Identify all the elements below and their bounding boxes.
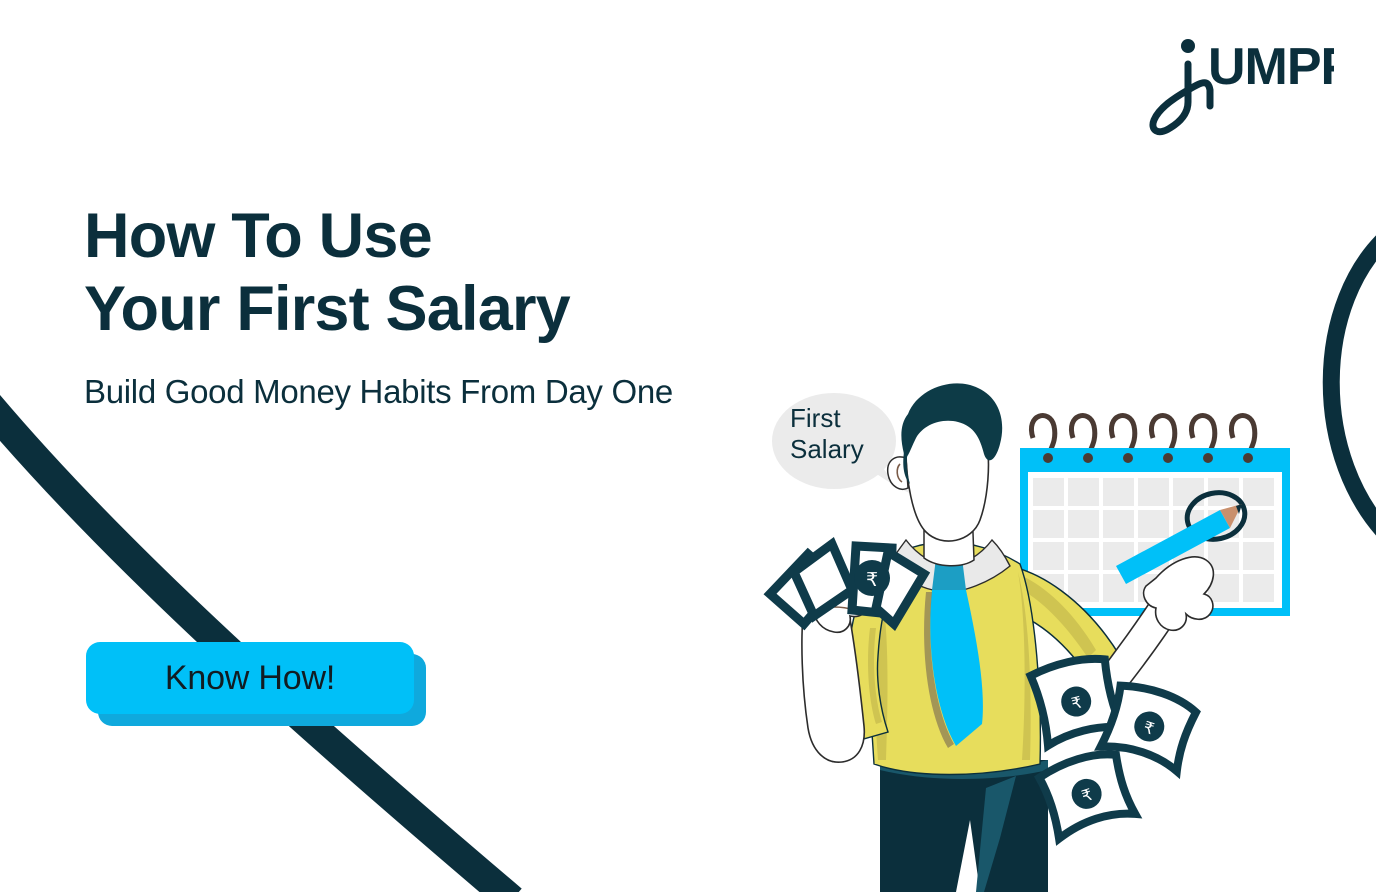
headline-line-2: Your First Salary	[84, 273, 784, 346]
person-head	[888, 383, 1002, 565]
cta-container: Know How!	[86, 642, 416, 722]
speech-bubble-text: First Salary	[790, 403, 900, 464]
hero-copy: How To Use Your First Salary Build Good …	[84, 200, 784, 412]
floating-note-3: ₹	[1038, 748, 1136, 839]
hero-subheadline: Build Good Money Habits From Day One	[84, 372, 784, 412]
person-trousers	[880, 760, 1048, 892]
headline-line-1: How To Use	[84, 200, 784, 273]
promo-banner: UMPP How To Use Your First Salary Build …	[0, 0, 1376, 892]
trousers-shape	[880, 760, 1048, 892]
jumpp-logo-wordmark: UMPP	[1208, 38, 1334, 96]
jumpp-logo-dot-icon	[1181, 39, 1195, 53]
fanned-note-rupee-symbol: ₹	[866, 570, 878, 591]
speech-bubble-line-2: Salary	[790, 434, 900, 465]
page-title: How To Use Your First Salary	[84, 200, 784, 346]
know-how-button[interactable]: Know How!	[86, 642, 414, 714]
speech-bubble-line-1: First	[790, 403, 900, 434]
right-edge-arc	[1331, 232, 1376, 540]
jumpp-logo-swirl-icon	[1153, 64, 1210, 132]
jumpp-logo[interactable]: UMPP	[1148, 28, 1334, 146]
